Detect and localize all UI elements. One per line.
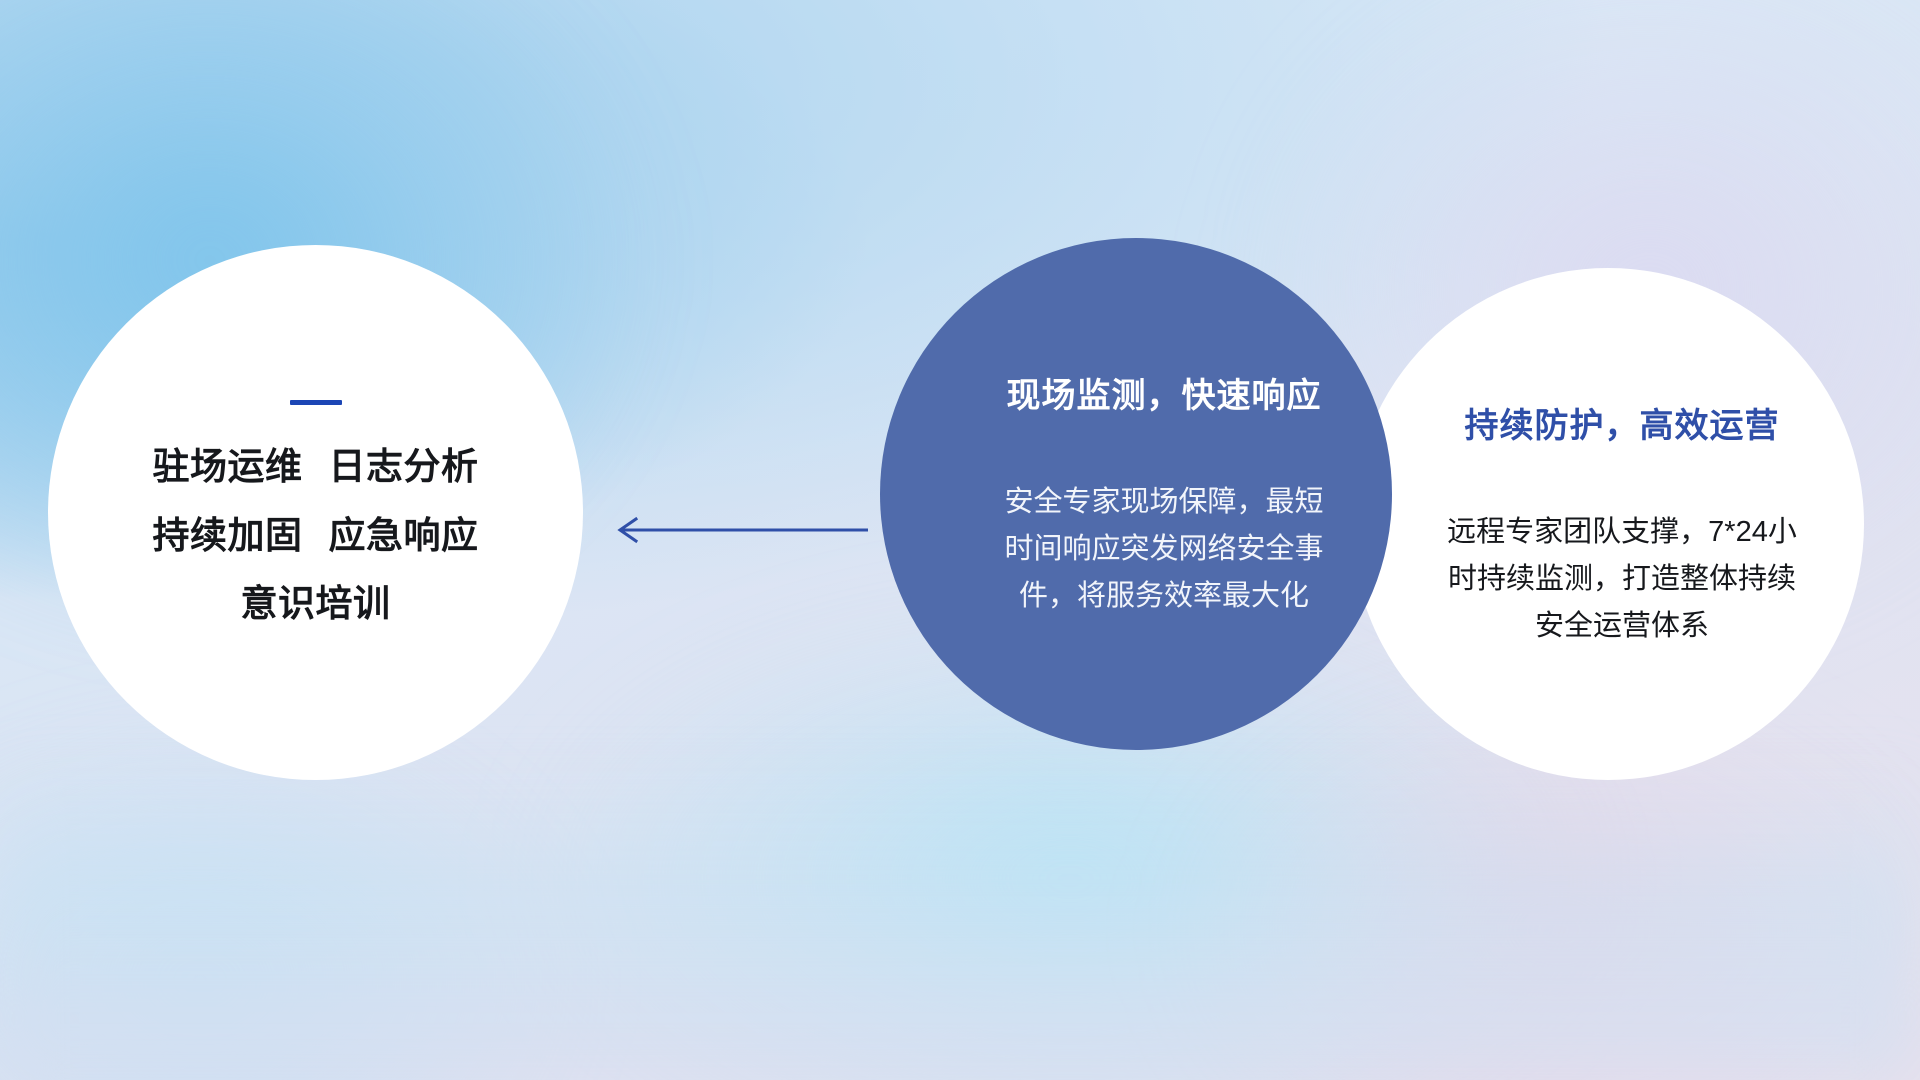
right-circle-title: 持续防护，高效运营 — [1422, 398, 1822, 447]
middle-circle-body: 安全专家现场保障，最短时间响应突发网络安全事件，将服务效率最大化 — [999, 479, 1329, 620]
service-label: 驻场运维 — [153, 446, 303, 487]
slide-canvas: 持续防护，高效运营 远程专家团队支撑，7*24小时持续监测，打造整体持续安全运营… — [0, 0, 1920, 1080]
divider-dash — [290, 400, 342, 405]
middle-circle-content: 现场监测，快速响应 安全专家现场保障，最短时间响应突发网络安全事件，将服务效率最… — [964, 368, 1364, 620]
service-label: 日志分析 — [329, 446, 479, 487]
right-circle-body: 远程专家团队支撑，7*24小时持续监测，打造整体持续安全运营体系 — [1442, 509, 1802, 650]
circle-left-services[interactable]: 驻场运维日志分析 持续加固应急响应 意识培训 — [48, 245, 583, 780]
list-item: 持续加固应急响应 — [153, 516, 479, 557]
circle-middle-onsite-monitoring[interactable]: 现场监测，快速响应 安全专家现场保障，最短时间响应突发网络安全事件，将服务效率最… — [880, 238, 1392, 750]
service-label: 意识培训 — [241, 583, 391, 624]
right-circle-content: 持续防护，高效运营 远程专家团队支撑，7*24小时持续监测，打造整体持续安全运营… — [1422, 398, 1822, 650]
service-label: 应急响应 — [329, 515, 479, 556]
left-circle-service-list: 驻场运维日志分析 持续加固应急响应 意识培训 — [153, 447, 479, 625]
circle-right-continuous-protection[interactable]: 持续防护，高效运营 远程专家团队支撑，7*24小时持续监测，打造整体持续安全运营… — [1352, 268, 1864, 780]
arrow-left-icon — [600, 500, 870, 560]
list-item: 驻场运维日志分析 — [153, 447, 479, 488]
list-item: 意识培训 — [241, 584, 391, 625]
service-label: 持续加固 — [153, 515, 303, 556]
background-bottom-band — [0, 760, 1920, 1080]
middle-circle-title: 现场监测，快速响应 — [964, 368, 1364, 417]
